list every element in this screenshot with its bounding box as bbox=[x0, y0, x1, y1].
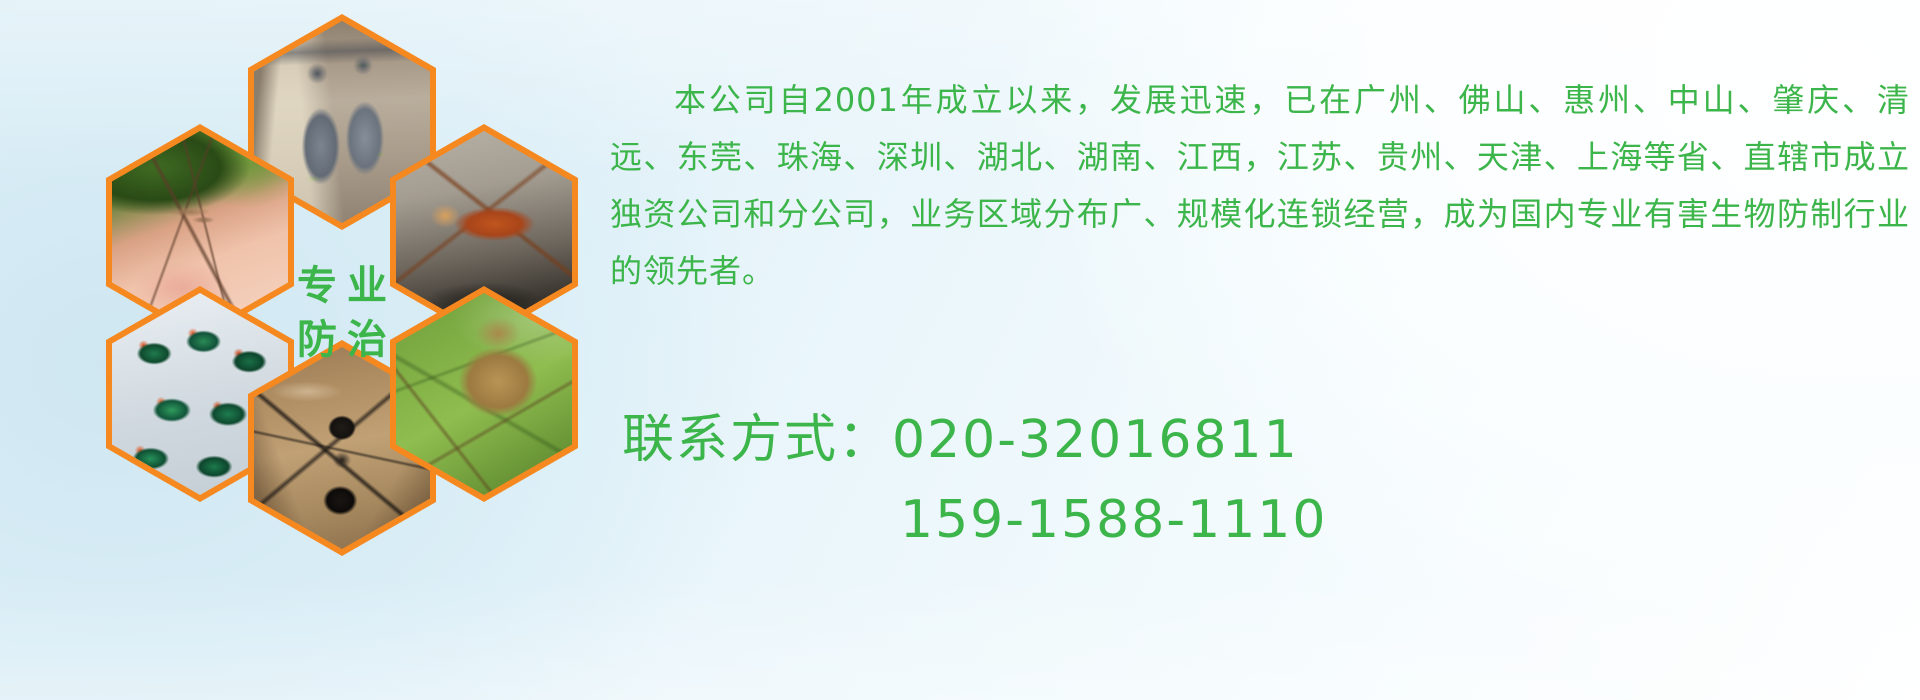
hex-photo-cluster: 专业 防治 bbox=[96, 6, 596, 558]
hex-center-label-line-1: 专业 bbox=[287, 266, 397, 306]
hex-center-label-line-2: 防治 bbox=[287, 320, 397, 360]
hex-center-label: 专业 防治 bbox=[248, 205, 436, 421]
contact-block: 联系方式：020-32016811 159-1588-1110 bbox=[610, 400, 1910, 560]
contact-line-mobile[interactable]: 159-1588-1110 bbox=[610, 480, 1910, 560]
company-intro-paragraph: 本公司自2001年成立以来，发展迅速，已在广州、佛山、惠州、中山、肇庆、清远、东… bbox=[610, 72, 1910, 300]
banner-content: 本公司自2001年成立以来，发展迅速，已在广州、佛山、惠州、中山、肇庆、清远、东… bbox=[610, 0, 1920, 700]
promo-banner: 专业 防治 本公司自2001年成立以来，发展迅速，已在广州、佛山、惠州、中山、肇… bbox=[0, 0, 1920, 700]
contact-line-landline[interactable]: 联系方式：020-32016811 bbox=[610, 400, 1910, 480]
